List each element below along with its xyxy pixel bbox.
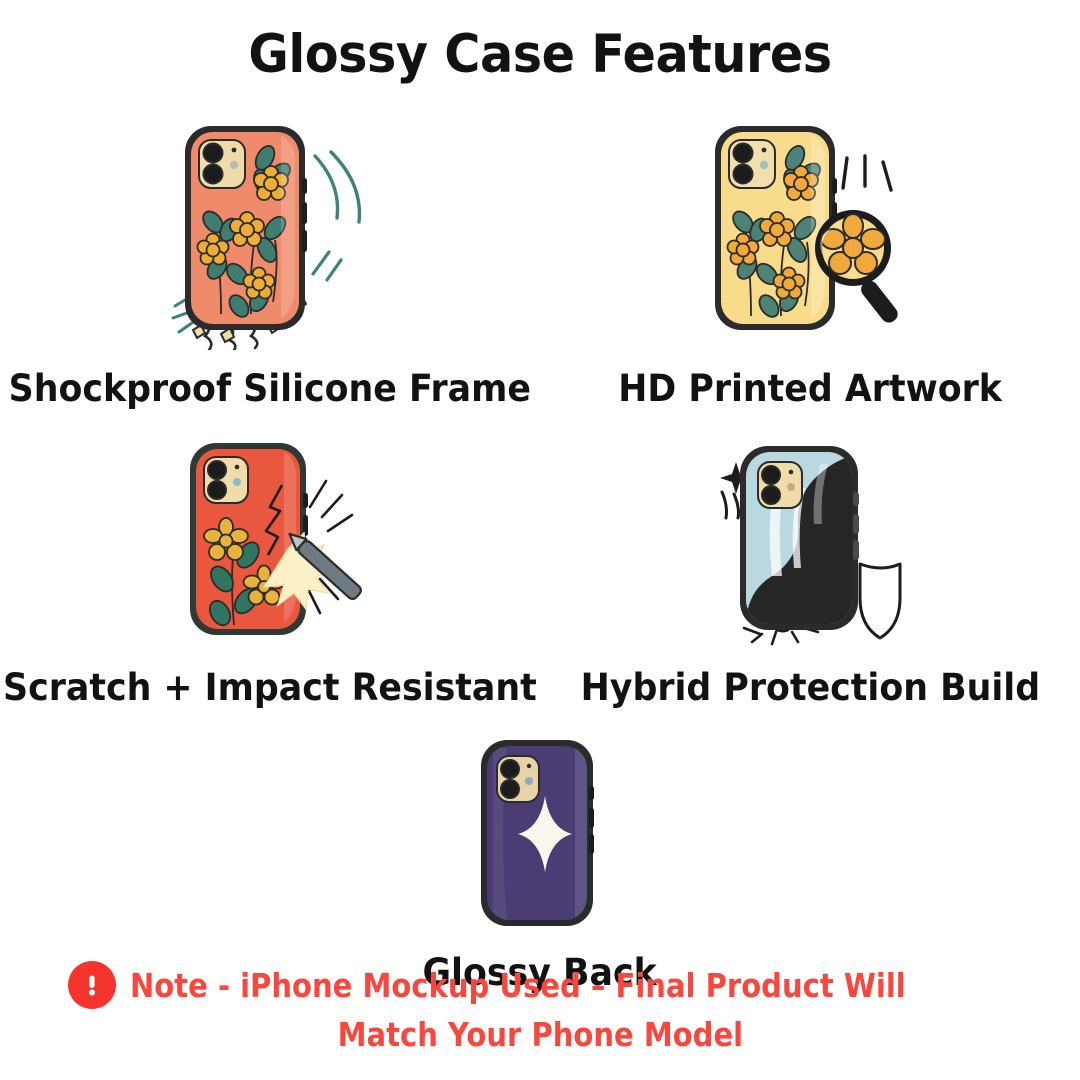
exclamation-circle-icon [68, 961, 116, 1009]
phone-case-purple-sparkle-icon [465, 734, 615, 932]
phone-case-yellow-floral-magnifier-icon [695, 118, 925, 350]
feature-item-scratch-resistant: Scratch + Impact Resistant [0, 437, 540, 706]
feature-item-hd-artwork: HD Printed Artwork [540, 118, 1080, 407]
feature-item-shockproof: Shockproof Silicone Frame [0, 118, 540, 407]
page-title: Glossy Case Features [38, 24, 1042, 85]
feature-item-glossy-back: Glossy Back [0, 734, 1080, 991]
feature-label: Scratch + Impact Resistant [3, 669, 537, 706]
feature-row-1: Shockproof Silicone Frame [0, 118, 1080, 407]
feature-infographic: Glossy Case Features [0, 0, 1080, 1080]
phone-case-blue-black-shield-icon [700, 437, 920, 647]
feature-label: Shockproof Silicone Frame [9, 370, 531, 407]
note-text-line2: Match Your Phone Model [337, 1015, 742, 1054]
feature-row-3: Glossy Back [0, 734, 1080, 991]
feature-row-2: Scratch + Impact Resistant [0, 437, 1080, 706]
phone-case-red-scratch-tool-icon [160, 437, 380, 647]
disclaimer-note: Note - iPhone Mockup Used – Final Produc… [0, 961, 1080, 1054]
feature-item-hybrid-protection: Hybrid Protection Build [540, 437, 1080, 706]
feature-label: HD Printed Artwork [618, 370, 1002, 407]
note-text-line1: Note - iPhone Mockup Used – Final Produc… [130, 966, 906, 1005]
feature-label: Hybrid Protection Build [580, 669, 1039, 706]
phone-case-coral-floral-impact-icon [155, 118, 385, 350]
note-line-1: Note - iPhone Mockup Used – Final Produc… [68, 961, 1012, 1009]
feature-grid: Shockproof Silicone Frame [0, 118, 1080, 991]
